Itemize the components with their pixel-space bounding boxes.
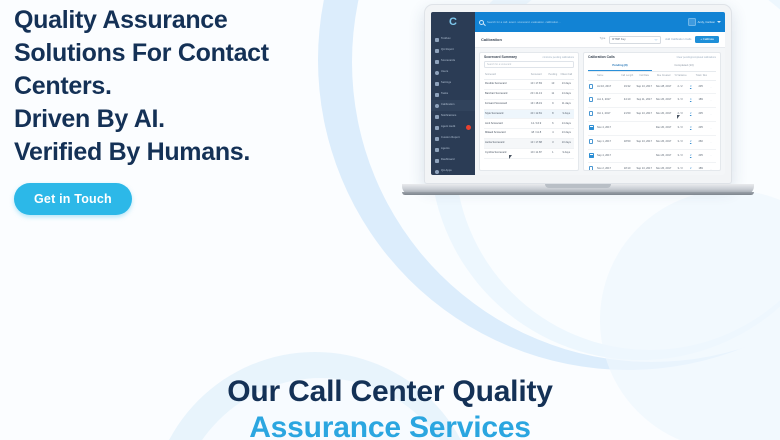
tab-pending[interactable]: Pending (8) bbox=[588, 61, 652, 70]
phone-icon bbox=[589, 111, 593, 116]
row-actions[interactable]: ·· bbox=[707, 94, 716, 108]
cell-variance: 3 / 3 bbox=[674, 94, 687, 108]
scorecard-summary-header: Scorecard Summary minimize pending calib… bbox=[480, 53, 578, 61]
chevron-down-icon bbox=[654, 39, 658, 41]
scorecard-icon bbox=[435, 60, 439, 64]
col-due-created: Due Created bbox=[654, 72, 674, 80]
cell-icon bbox=[588, 94, 596, 108]
cell-oldest: 10 days bbox=[559, 139, 574, 149]
laptop-lid: C Toolbox QA Report Scorecards bbox=[424, 4, 732, 184]
row-actions[interactable]: ·· bbox=[707, 135, 716, 149]
table-row[interactable]: Amit Scorecard 12 / 16.9 6 14 days bbox=[484, 119, 574, 129]
sidebar-item-custom-report[interactable]: Custom Report bbox=[431, 133, 475, 144]
headline-line-1: Quality Assurance bbox=[14, 4, 269, 37]
cell-call-date: Sep 13, 2017 bbox=[635, 163, 654, 171]
sidebar-item-label: Users bbox=[441, 71, 448, 74]
row-actions[interactable]: ·· bbox=[707, 121, 716, 135]
sidebar-item-label: Custom Report bbox=[441, 137, 460, 140]
cell-name: Cynthia Scorecard bbox=[484, 148, 525, 158]
table-row[interactable]: Barchart Scorecard 20 / 41.13 11 14 days bbox=[484, 90, 574, 100]
cell-icon bbox=[588, 108, 596, 122]
sidebar-item-toolbox[interactable]: Toolbox bbox=[431, 34, 475, 45]
calibrate-button[interactable]: + Calibrate bbox=[695, 36, 719, 44]
cell-score: 10 / 17.83 bbox=[525, 80, 547, 90]
cell-pending: 3 bbox=[547, 139, 559, 149]
settings-icon bbox=[435, 82, 439, 86]
table-row[interactable]: Nov 2, 2017 18:10 Sep 13, 2017 Nov 26, 2… bbox=[588, 163, 716, 171]
table-header-row: Name Call Length Call Date Due Created %… bbox=[588, 72, 716, 80]
cell-total: 189 bbox=[695, 94, 707, 108]
cell-pending: 8 bbox=[547, 109, 559, 119]
cell-name: Amit Scorecard bbox=[484, 119, 525, 129]
col-link bbox=[687, 72, 695, 80]
global-search[interactable]: Search for a call, agent, scorecard, eva… bbox=[479, 20, 684, 25]
sidebar-item-label: Settings bbox=[441, 82, 451, 85]
cell-call-length: 44:10 bbox=[620, 94, 635, 108]
table-row[interactable]: Mikaeli Scorecard 18 / 11.8 4 13 days bbox=[484, 129, 574, 139]
phone-icon bbox=[589, 84, 593, 89]
headline-line-4: Driven By AI. bbox=[14, 103, 269, 136]
scorecard-summary-panel: Scorecard Summary minimize pending calib… bbox=[479, 52, 579, 171]
row-actions[interactable]: ·· bbox=[707, 80, 716, 94]
headline-line-2: Solutions For Contact bbox=[14, 37, 269, 70]
cell-oldest: 13 days bbox=[559, 129, 574, 139]
cell-link[interactable]: 2 bbox=[687, 108, 695, 122]
cell-variance: 2 / 2 bbox=[674, 80, 687, 94]
cell-oldest: 14 days bbox=[559, 119, 574, 129]
page-toolbar: Calibration Type RTMP Key Add Calibratio… bbox=[475, 32, 725, 48]
mouse-cursor bbox=[677, 115, 682, 119]
col-call-length: Call Length bbox=[620, 72, 635, 80]
cell-pending: 1 bbox=[547, 148, 559, 158]
cell-call-name: Jul 16, 2017 bbox=[596, 80, 620, 94]
scorecard-search-input[interactable]: Search for a scorecard bbox=[484, 61, 574, 68]
cell-call-name: Oct 1, 2017 bbox=[596, 108, 620, 122]
cell-total: 235 bbox=[695, 149, 707, 163]
cell-icon bbox=[588, 80, 596, 94]
user-name-label: Andy, Carlson bbox=[698, 21, 715, 24]
scorecard-table-body: Flexible Scorecard 10 / 17.83 13 13 days… bbox=[484, 80, 574, 158]
cell-name: Style Scorecard bbox=[484, 109, 525, 119]
sidebar-item-label: Toolbox bbox=[441, 38, 451, 41]
dashboard-sidebar: C Toolbox QA Report Scorecards bbox=[431, 12, 475, 175]
cell-link[interactable]: 2 bbox=[687, 149, 695, 163]
table-row[interactable]: Sep 4, 2017 Nov 26, 2017 3 / 3 2 235 ·· bbox=[588, 149, 716, 163]
search-icon bbox=[479, 20, 484, 25]
apps-icon bbox=[435, 170, 439, 174]
cell-name: Mikaeli Scorecard bbox=[484, 129, 525, 139]
hero-content: Quality Assurance Solutions For Contact … bbox=[14, 4, 269, 215]
table-row[interactable]: Sep 1, 2017 18:50 Sep 13, 2017 Nov 26, 2… bbox=[588, 135, 716, 149]
chevron-down-icon bbox=[717, 21, 721, 23]
cell-variance: 3 / 3 bbox=[674, 163, 687, 171]
cell-name: Forward Scorecard bbox=[484, 99, 525, 109]
cell-link[interactable]: 3 bbox=[687, 80, 695, 94]
type-select[interactable]: RTMP Key bbox=[609, 36, 661, 44]
sidebar-item-settings[interactable]: Settings bbox=[431, 78, 475, 89]
sidebar-item-tasks[interactable]: Tasks bbox=[431, 89, 475, 100]
calendar-icon bbox=[589, 125, 594, 130]
next-section-heading: Our Call Center Quality Assurance Servic… bbox=[0, 374, 780, 440]
cell-oldest: 14 days bbox=[559, 90, 574, 100]
scorecard-search-placeholder: Search for a scorecard bbox=[487, 64, 511, 66]
avatar bbox=[688, 18, 696, 26]
cell-icon bbox=[588, 149, 596, 163]
cell-score: 12 / 16.9 bbox=[525, 119, 547, 129]
cell-due-created: Nov 26, 2017 bbox=[654, 163, 674, 171]
col-call-name: Name bbox=[596, 72, 620, 80]
dashboard-main: Search for a call, agent, scorecard, eva… bbox=[475, 12, 725, 175]
cell-total: 235 bbox=[695, 108, 707, 122]
cell-call-name: Sep 1, 2017 bbox=[596, 135, 620, 149]
cell-score: 20 / 41.13 bbox=[525, 90, 547, 100]
type-select-value: RTMP Key bbox=[612, 38, 625, 41]
cell-total: 189 bbox=[695, 163, 707, 171]
cell-total: 235 bbox=[695, 121, 707, 135]
cell-icon bbox=[588, 135, 596, 149]
user-menu[interactable]: Andy, Carlson bbox=[688, 18, 721, 26]
sidebar-nav: Toolbox QA Report Scorecards Users bbox=[431, 32, 475, 175]
col-actions bbox=[707, 72, 716, 80]
cell-name: Barchart Scorecard bbox=[484, 90, 525, 100]
cell-call-name: Jun 4, 2017 bbox=[596, 94, 620, 108]
sidebar-item-qa-report[interactable]: QA Report bbox=[431, 45, 475, 56]
bell-icon bbox=[435, 115, 439, 119]
cell-call-date: Sep 13, 2017 bbox=[635, 80, 654, 94]
row-actions[interactable]: ·· bbox=[707, 163, 716, 171]
cell-call-length: 18:50 bbox=[620, 135, 635, 149]
cell-link[interactable]: 2 bbox=[687, 163, 695, 171]
sidebar-item-label: QA Apps bbox=[441, 170, 452, 173]
table-row[interactable]: Flexible Scorecard 10 / 17.83 13 13 days bbox=[484, 80, 574, 90]
cell-due-created: Nov 20, 2017 bbox=[654, 108, 674, 122]
next-section-line-1: Our Call Center Quality bbox=[0, 374, 780, 410]
cell-oldest: 9 days bbox=[559, 109, 574, 119]
cell-pending: 11 bbox=[547, 90, 559, 100]
table-header-row: Scorecard Scorecard Pending Oldest Call bbox=[484, 71, 574, 79]
col-icon bbox=[588, 72, 596, 80]
sidebar-item-users[interactable]: Users bbox=[431, 67, 475, 78]
table-row[interactable]: Forward Scorecard 19 / 18.19 9 11 days bbox=[484, 99, 574, 109]
cell-call-length bbox=[620, 121, 635, 135]
sidebar-item-label: Tasks bbox=[441, 93, 448, 96]
cell-call-length bbox=[620, 149, 635, 163]
table-row[interactable]: Jun 4, 2017 44:10 Sep 11, 2017 Nov 26, 2… bbox=[588, 94, 716, 108]
cell-link[interactable]: 3 bbox=[687, 121, 695, 135]
cell-icon bbox=[588, 121, 596, 135]
phone-icon bbox=[589, 139, 593, 144]
sidebar-item-calibration[interactable]: Calibration bbox=[431, 100, 475, 111]
next-section-line-2: Assurance Services bbox=[0, 410, 780, 440]
tasks-icon bbox=[435, 93, 439, 97]
wrench-icon bbox=[435, 38, 439, 42]
filter-label: Type bbox=[600, 38, 606, 41]
table-row[interactable]: Nov 4, 2017 Dec 20, 2017 3 / 3 3 235 ·· bbox=[588, 121, 716, 135]
sidebar-item-scorecards[interactable]: Scorecards bbox=[431, 56, 475, 67]
calibration-icon bbox=[435, 104, 439, 108]
page-title: Calibration bbox=[481, 38, 596, 42]
calendar-icon bbox=[589, 153, 594, 158]
sidebar-item-agent-audit[interactable]: Agent Audit bbox=[431, 122, 475, 133]
audit-icon bbox=[435, 126, 439, 130]
cell-due-created: Nov 26, 2017 bbox=[654, 149, 674, 163]
dashboard-icon bbox=[435, 159, 439, 163]
cell-call-date: Sep 13, 2017 bbox=[635, 135, 654, 149]
sidebar-item-label: Calibration bbox=[441, 104, 455, 107]
col-call-date: Call Date bbox=[635, 72, 654, 80]
cell-variance: 3 / 3 bbox=[674, 121, 687, 135]
sidebar-item-label: Scorecards bbox=[441, 60, 455, 63]
scorecard-summary-link[interactable]: minimize pending calibrations bbox=[543, 57, 574, 59]
cell-name: Aurita Scorecard bbox=[484, 139, 525, 149]
agents-icon bbox=[435, 148, 439, 152]
cell-due-created: Dec 20, 2017 bbox=[654, 121, 674, 135]
table-row[interactable]: Jul 16, 2017 19:32 Sep 13, 2017 Nov 28, … bbox=[588, 80, 716, 94]
cell-score: 18 / 11.8 bbox=[525, 129, 547, 139]
calibration-calls-table: Name Call Length Call Date Due Created %… bbox=[588, 72, 716, 171]
table-row[interactable]: Cynthia Scorecard 19 / 11.87 1 9 days bbox=[484, 148, 574, 158]
logo-mark-icon: C bbox=[449, 17, 457, 28]
cell-score: 13 / 17.88 bbox=[525, 139, 547, 149]
calibration-calls-link[interactable]: Clear pending/completed calibrations bbox=[677, 57, 716, 59]
headline-line-5: Verified By Humans. bbox=[14, 136, 269, 169]
cell-call-name: Sep 4, 2017 bbox=[596, 149, 620, 163]
cell-call-date bbox=[635, 149, 654, 163]
laptop-base bbox=[402, 184, 754, 195]
calls-table-wrap: Name Call Length Call Date Due Created %… bbox=[584, 72, 720, 171]
table-row[interactable]: Oct 1, 2017 21:50 Sep 13, 2017 Nov 20, 2… bbox=[588, 108, 716, 122]
col-pending: Pending bbox=[547, 71, 559, 79]
cell-total: 260 bbox=[695, 135, 707, 149]
cell-oldest: 9 days bbox=[559, 148, 574, 158]
cell-score: 19 / 18.19 bbox=[525, 99, 547, 109]
cell-call-date: Sep 11, 2017 bbox=[635, 94, 654, 108]
cell-variance: 3 / 3 bbox=[674, 149, 687, 163]
col-oldest: Oldest Call bbox=[559, 71, 574, 79]
cell-oldest: 11 days bbox=[559, 99, 574, 109]
cell-oldest: 13 days bbox=[559, 80, 574, 90]
cell-pending: 13 bbox=[547, 80, 559, 90]
calibration-calls-panel: Calibration Calls Clear pending/complete… bbox=[583, 52, 721, 171]
mouse-cursor-secondary bbox=[509, 155, 514, 159]
cell-pending: 9 bbox=[547, 99, 559, 109]
sidebar-item-label: Agent Audit bbox=[441, 126, 455, 129]
cell-call-length: 21:50 bbox=[620, 108, 635, 122]
cell-score: 40 / 12.81 bbox=[525, 109, 547, 119]
cell-call-name: Nov 2, 2017 bbox=[596, 163, 620, 171]
calibration-calls-header: Calibration Calls Clear pending/complete… bbox=[584, 53, 720, 61]
row-actions[interactable]: ·· bbox=[707, 149, 716, 163]
sidebar-item-label: QA Report bbox=[441, 49, 454, 52]
scorecard-table-wrap: Scorecard Scorecard Pending Oldest Call … bbox=[480, 71, 578, 158]
cell-pending: 6 bbox=[547, 119, 559, 129]
search-input[interactable]: Search for a call, agent, scorecard, eva… bbox=[487, 21, 561, 24]
hero-headline: Quality Assurance Solutions For Contact … bbox=[14, 4, 269, 169]
get-in-touch-button[interactable]: Get in Touch bbox=[14, 183, 132, 215]
sidebar-item-qa-apps[interactable]: QA Apps bbox=[431, 166, 475, 175]
dashboard-topbar: Search for a call, agent, scorecard, eva… bbox=[475, 12, 725, 32]
cell-due-created: Nov 28, 2017 bbox=[654, 80, 674, 94]
sidebar-item-label: Agents bbox=[441, 148, 450, 151]
laptop-mockup: C Toolbox QA Report Scorecards bbox=[402, 4, 754, 195]
cell-due-created: Nov 26, 2017 bbox=[654, 135, 674, 149]
cell-call-date bbox=[635, 121, 654, 135]
notification-badge bbox=[466, 125, 471, 130]
cell-icon bbox=[588, 163, 596, 171]
table-row[interactable]: Style Scorecard 40 / 12.81 8 9 days bbox=[484, 109, 574, 119]
cell-pending: 4 bbox=[547, 129, 559, 139]
col-variance: % Variance bbox=[674, 72, 687, 80]
cell-call-length: 19:32 bbox=[620, 80, 635, 94]
calibration-tabs: Pending (8) Completed (13) bbox=[588, 61, 716, 71]
sidebar-item-agents[interactable]: Agents bbox=[431, 144, 475, 155]
calibration-calls-title: Calibration Calls bbox=[588, 56, 615, 59]
app-logo[interactable]: C bbox=[431, 12, 475, 32]
sidebar-item-notifications[interactable]: Notifications bbox=[431, 111, 475, 122]
col-score: Scorecard bbox=[525, 71, 547, 79]
cell-due-created: Nov 26, 2017 bbox=[654, 94, 674, 108]
phone-icon bbox=[589, 166, 593, 171]
cell-link[interactable]: 4 bbox=[687, 94, 695, 108]
add-calibration-calls-link[interactable]: Add Calibration Calls bbox=[665, 38, 691, 41]
sidebar-item-label: Dashboard bbox=[441, 159, 455, 162]
report-icon bbox=[435, 49, 439, 53]
cell-name: Flexible Scorecard bbox=[484, 80, 525, 90]
cell-call-name: Nov 4, 2017 bbox=[596, 121, 620, 135]
laptop-base-edge bbox=[402, 192, 754, 195]
headline-line-3: Centers. bbox=[14, 70, 269, 103]
scorecard-table: Scorecard Scorecard Pending Oldest Call … bbox=[484, 71, 574, 158]
cell-link[interactable]: 2 bbox=[687, 135, 695, 149]
scorecard-summary-title: Scorecard Summary bbox=[484, 56, 517, 59]
calls-table-body: Jul 16, 2017 19:32 Sep 13, 2017 Nov 28, … bbox=[588, 80, 716, 171]
cell-variance: 3 / 3 bbox=[674, 135, 687, 149]
table-row[interactable]: Aurita Scorecard 13 / 17.88 3 10 days bbox=[484, 139, 574, 149]
dashboard-screen: C Toolbox QA Report Scorecards bbox=[431, 12, 725, 175]
sidebar-item-label: Notifications bbox=[441, 115, 456, 118]
custom-report-icon bbox=[435, 137, 439, 141]
col-total-review: Total / Review bbox=[695, 72, 707, 80]
cell-call-length: 18:10 bbox=[620, 163, 635, 171]
sidebar-item-dashboard[interactable]: Dashboard bbox=[431, 155, 475, 166]
tab-completed[interactable]: Completed (13) bbox=[652, 61, 716, 70]
row-actions[interactable]: ·· bbox=[707, 108, 716, 122]
cell-score: 19 / 11.87 bbox=[525, 148, 547, 158]
col-scorecard: Scorecard bbox=[484, 71, 525, 79]
cell-total: 235 bbox=[695, 80, 707, 94]
phone-icon bbox=[589, 97, 593, 102]
cell-call-date: Sep 13, 2017 bbox=[635, 108, 654, 122]
users-icon bbox=[435, 71, 439, 75]
